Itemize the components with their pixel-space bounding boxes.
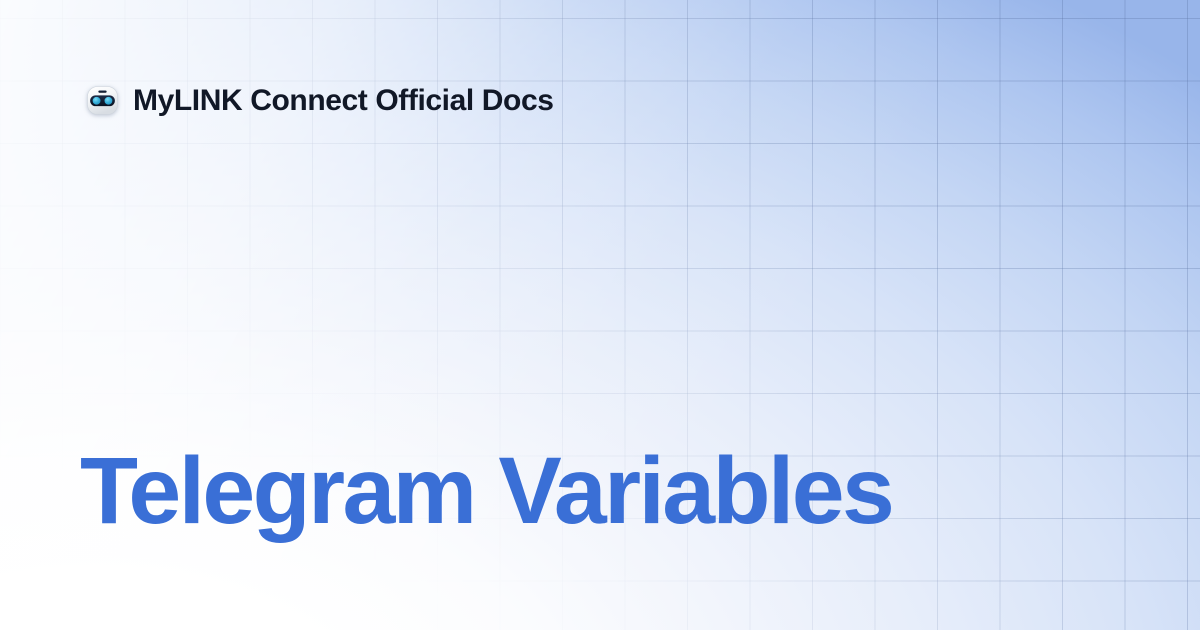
brand-header: MyLINK Connect Official Docs (86, 84, 554, 117)
brand-title: MyLINK Connect Official Docs (133, 86, 554, 116)
og-preview-card: MyLINK Connect Official Docs Telegram Va… (0, 0, 1200, 630)
page-title: Telegram Variables (80, 440, 892, 543)
robot-face-icon (86, 84, 119, 117)
